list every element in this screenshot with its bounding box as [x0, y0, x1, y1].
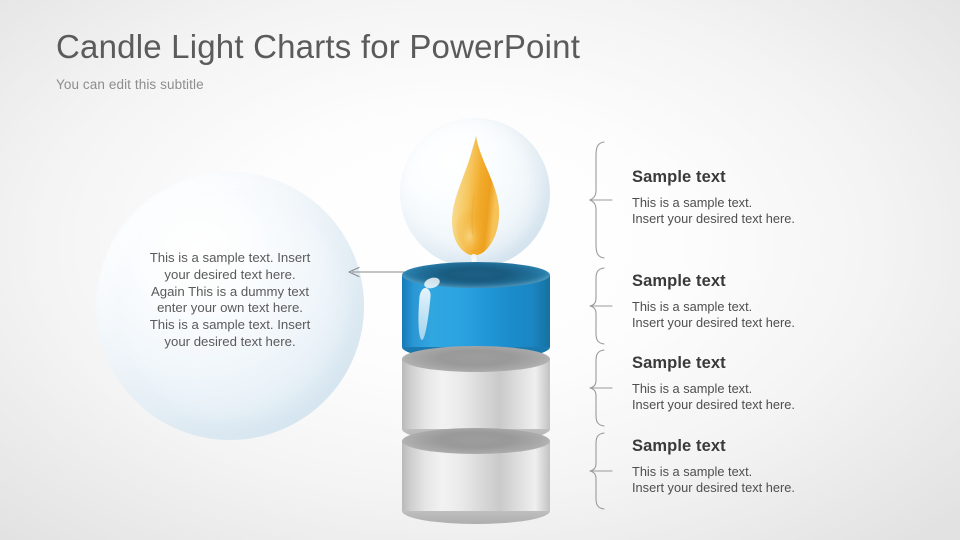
list-item-line: Insert your desired text here. — [632, 315, 932, 331]
silver-upper-top — [402, 346, 550, 372]
list-item-line: Insert your desired text here. — [632, 211, 932, 227]
list-item-line: This is a sample text. — [632, 195, 932, 211]
curly-brace-icon — [588, 348, 614, 428]
list-item-text: Sample text This is a sample text. Inser… — [632, 354, 932, 412]
list-item-line: This is a sample text. — [632, 464, 932, 480]
curly-brace-icon — [588, 431, 614, 511]
list-item-heading: Sample text — [632, 437, 932, 455]
left-bubble-line: your desired text here. — [118, 267, 342, 284]
page-subtitle: You can edit this subtitle — [56, 77, 756, 92]
list-item-lines: This is a sample text. Insert your desir… — [632, 299, 932, 330]
list-item-heading: Sample text — [632, 168, 932, 186]
curly-brace-icon — [588, 140, 614, 260]
list-item-text: Sample text This is a sample text. Inser… — [632, 168, 932, 226]
list-item-line: This is a sample text. — [632, 299, 932, 315]
curly-brace-icon — [588, 266, 614, 346]
left-bubble-line: enter your own text here. — [118, 300, 342, 317]
slide-canvas: Candle Light Charts for PowerPoint You c… — [0, 0, 960, 540]
silver-lower-top — [402, 428, 550, 454]
left-bubble-line: Again This is a dummy text — [118, 284, 342, 301]
list-item-text: Sample text This is a sample text. Inser… — [632, 437, 932, 495]
list-item-line: Insert your desired text here. — [632, 397, 932, 413]
list-item-lines: This is a sample text. Insert your desir… — [632, 464, 932, 495]
left-bubble-line: This is a sample text. Insert — [118, 250, 342, 267]
left-bubble-text: This is a sample text. Insert your desir… — [118, 250, 342, 351]
list-item-heading: Sample text — [632, 272, 932, 290]
left-description-bubble[interactable]: This is a sample text. Insert your desir… — [96, 172, 364, 440]
list-item-line: Insert your desired text here. — [632, 480, 932, 496]
list-item-line: This is a sample text. — [632, 381, 932, 397]
left-bubble-line: This is a sample text. Insert — [118, 317, 342, 334]
left-bubble-line: your desired text here. — [118, 334, 342, 351]
page-title: Candle Light Charts for PowerPoint — [56, 28, 756, 66]
list-item-lines: This is a sample text. Insert your desir… — [632, 381, 932, 412]
title-block: Candle Light Charts for PowerPoint You c… — [56, 28, 756, 92]
flame-icon — [450, 136, 502, 260]
candle-segment-silver-lower[interactable] — [402, 428, 550, 526]
list-item-heading: Sample text — [632, 354, 932, 372]
candle-graphic — [396, 118, 568, 510]
list-item-lines: This is a sample text. Insert your desir… — [632, 195, 932, 226]
list-item-text: Sample text This is a sample text. Inser… — [632, 272, 932, 330]
